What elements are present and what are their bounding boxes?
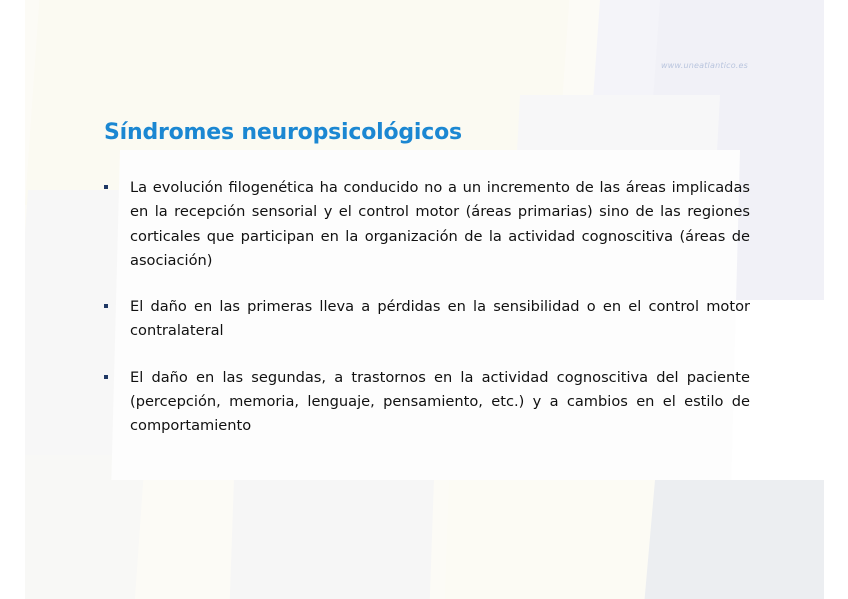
- background-panel-lavender-top: [592, 0, 848, 120]
- slide-margin-band-left: [0, 0, 25, 599]
- bullet-text-1: La evolución filogenética ha conducido n…: [130, 176, 750, 273]
- background-panel-bottom-cream: [445, 450, 660, 599]
- background-panel-cream-upper: [25, 0, 569, 205]
- background-panel-grey-lower-left: [15, 455, 145, 599]
- bullet-text-3: El daño en las segundas, a trastornos en…: [130, 366, 750, 439]
- bullet-item-1: La evolución filogenética ha conducido n…: [100, 176, 750, 273]
- bullet-text-2: El daño en las primeras lleva a pérdidas…: [130, 295, 750, 344]
- square-bullet-icon: [104, 375, 108, 379]
- watermark-url: www.uneatlantico.es: [661, 61, 748, 70]
- square-bullet-icon: [104, 304, 108, 308]
- bullet-item-2: El daño en las primeras lleva a pérdidas…: [100, 295, 750, 344]
- slide-body: La evolución filogenética ha conducido n…: [100, 176, 750, 461]
- presentation-slide: www.uneatlantico.es Síndromes neuropsico…: [0, 0, 848, 599]
- square-bullet-icon: [104, 185, 108, 189]
- slide-title: Síndromes neuropsicológicos: [104, 120, 462, 145]
- background-panel-bottom-middle: [230, 450, 435, 599]
- slide-margin-band-right: [824, 0, 848, 599]
- bullet-item-3: El daño en las segundas, a trastornos en…: [100, 366, 750, 439]
- background-panel-bottom-right: [644, 480, 848, 599]
